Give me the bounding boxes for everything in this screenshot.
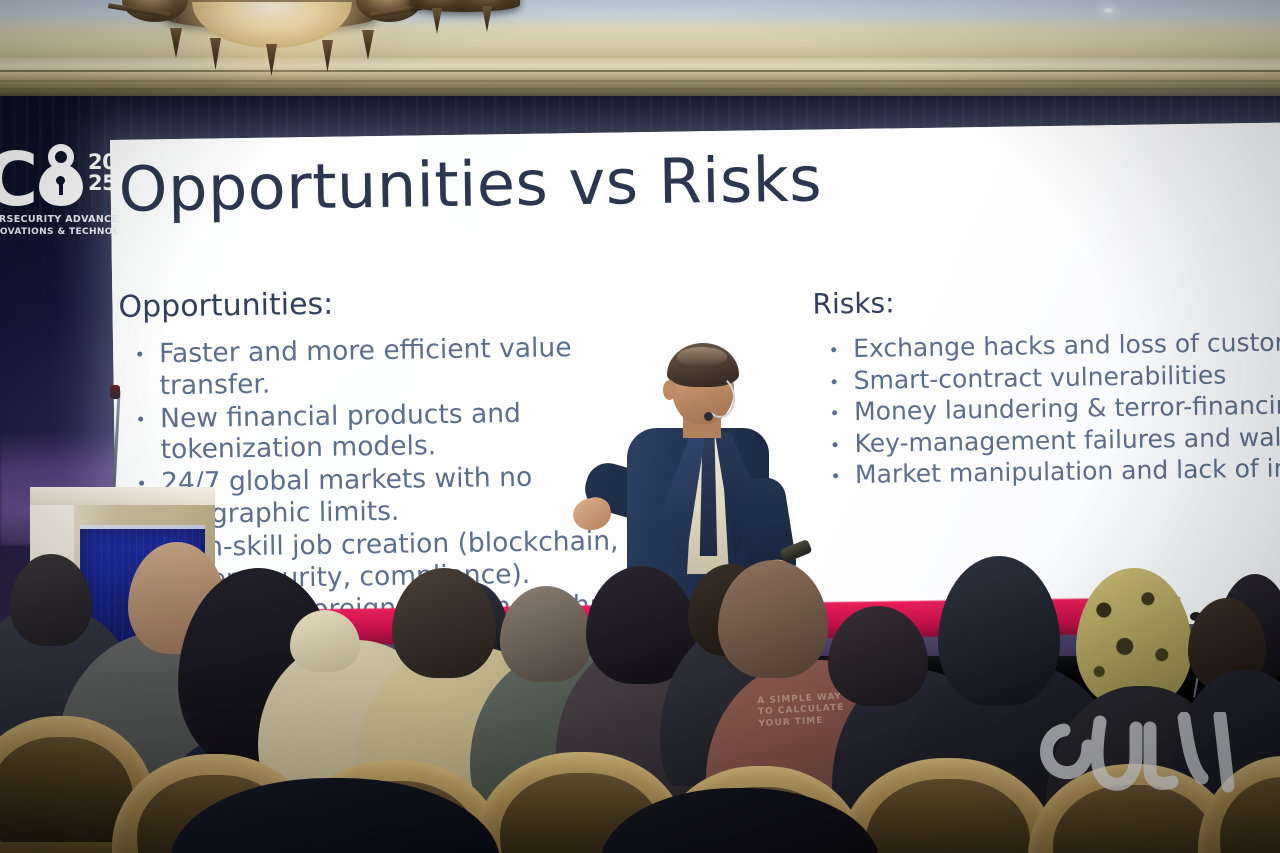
logo-year-bottom: 25: [88, 173, 116, 194]
cornice-line: [0, 80, 1280, 82]
podium-microphone-icon: [110, 385, 120, 399]
logo-letter-c: C: [0, 152, 34, 210]
logo-year: 20 25: [88, 152, 116, 195]
risks-heading: Risks:: [812, 280, 1280, 320]
speaker-ear: [663, 380, 676, 400]
headset-microphone-capsule: [704, 412, 713, 421]
list-item: Market manipulation and lack of investor…: [815, 453, 1280, 491]
audience-head: [828, 606, 928, 706]
audience-head-hijab: [938, 556, 1060, 706]
slide-title: Opportunities vs Risks: [118, 147, 822, 221]
ceiling-light-dot: [1104, 8, 1113, 13]
audience-head: [500, 586, 592, 682]
audience-head: [10, 554, 92, 646]
risks-list: Exchange hacks and loss of customer asse…: [813, 327, 1280, 491]
opportunities-heading: Opportunities:: [118, 282, 678, 325]
audience: A SIMPLE WAY TO CALCULATE YOUR TIME: [0, 520, 1280, 853]
event-logo: C 20 25 ERSECURITY ADVANCEMENTS NOVATION…: [0, 130, 118, 252]
shirt-graphic-text: A SIMPLE WAY TO CALCULATE YOUR TIME: [757, 692, 845, 730]
slide-column-risks: Risks: Exchange hacks and loss of custom…: [812, 280, 1280, 492]
presentation-photo-scene: Opportunities vs Risks Opportunities: Fa…: [0, 0, 1280, 853]
audience-head-hijab: [290, 610, 360, 672]
logo-tagline-line2: NOVATIONS & TECHNOLOGY: [0, 227, 118, 237]
padlock-keyhole-stem: [59, 182, 63, 195]
padlock-icon: [36, 144, 86, 206]
ceiling-cornice: [0, 58, 1280, 100]
logo-year-top: 20: [88, 152, 116, 173]
logo-tagline-line1: ERSECURITY ADVANCEMENTS: [0, 214, 118, 225]
cornice-line: [0, 70, 1280, 72]
audience-head: [718, 560, 828, 678]
cornice-line: [0, 88, 1280, 90]
